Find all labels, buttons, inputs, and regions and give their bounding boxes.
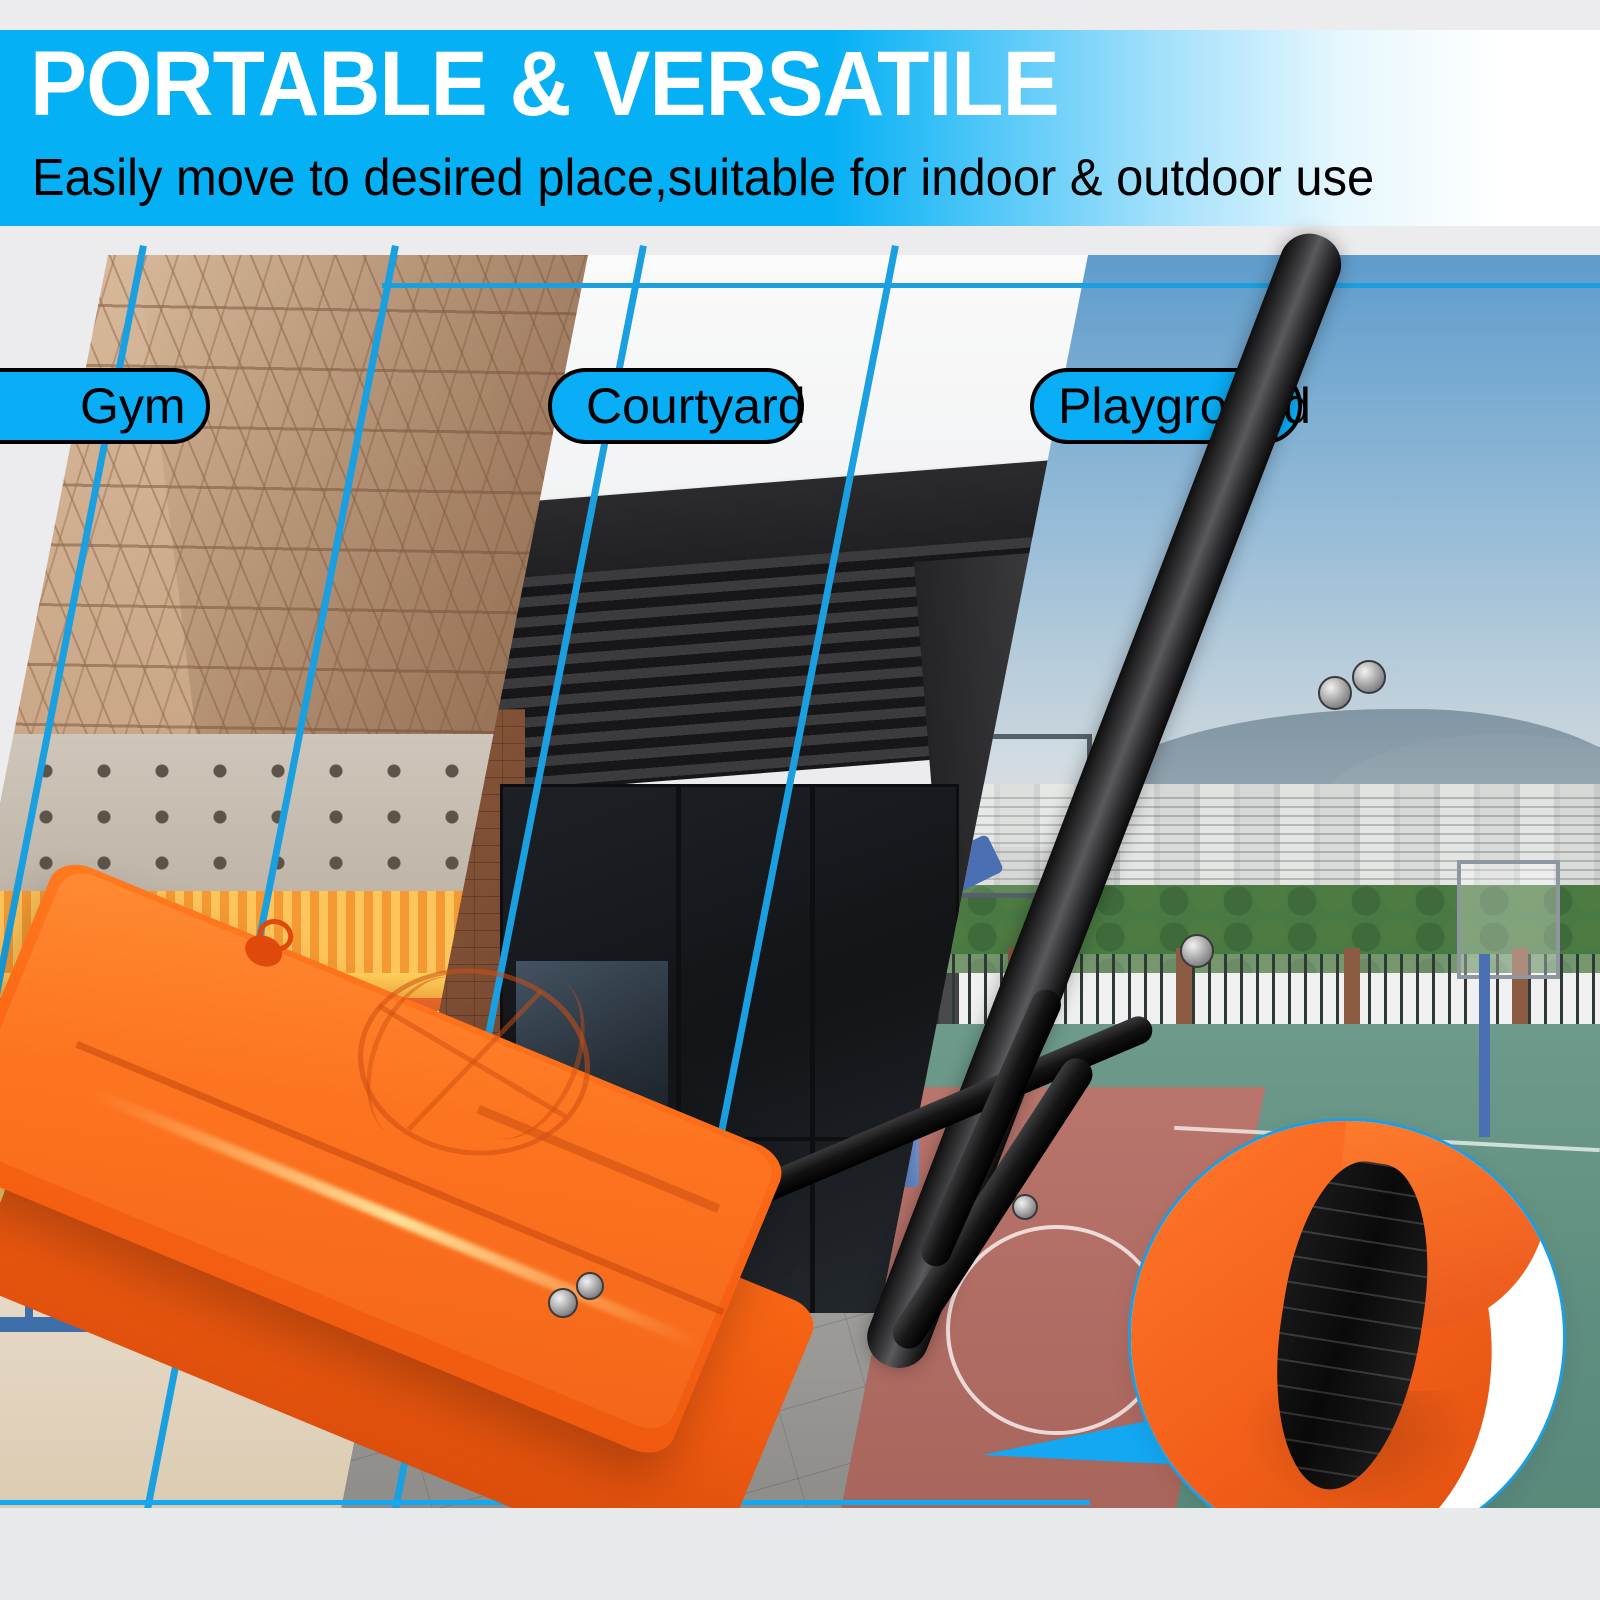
banner-subtitle: Easily move to desired place,suitable fo… <box>32 152 1374 204</box>
bolt-icon <box>1352 660 1386 694</box>
product-feature-image: PORTABLE & VERSATILE Easily move to desi… <box>0 0 1600 1600</box>
bolt-icon <box>1318 676 1352 710</box>
panel-label-courtyard-text: Courtyard <box>586 381 806 431</box>
bolt-icon <box>548 1288 578 1318</box>
bolt-icon <box>576 1272 604 1300</box>
banner-title: PORTABLE & VERSATILE <box>30 38 1059 130</box>
header-banner: PORTABLE & VERSATILE Easily move to desi… <box>0 30 1600 226</box>
panel-label-courtyard[interactable]: Courtyard <box>548 368 804 444</box>
panel-label-gym[interactable]: Gym <box>0 368 210 444</box>
bolt-icon <box>1180 934 1214 968</box>
strip-top-border <box>382 283 1600 288</box>
page-footer-area <box>0 1508 1600 1600</box>
product-fillable-base <box>60 855 1020 1575</box>
panel-label-gym-text: Gym <box>80 381 186 431</box>
bolt-icon <box>1012 1194 1038 1220</box>
callout-shadow <box>1241 1391 1471 1511</box>
wheel-zoom-callout <box>1128 1118 1566 1556</box>
playground-hoop-far <box>1402 860 1584 1137</box>
